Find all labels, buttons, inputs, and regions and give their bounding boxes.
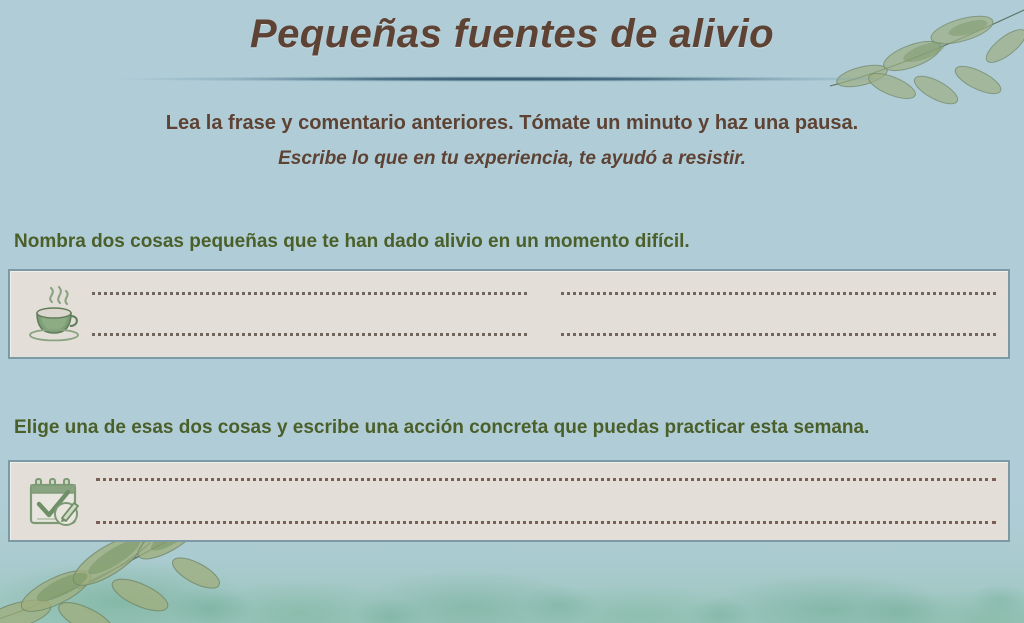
answer-column-left (92, 292, 527, 336)
answer-lines-group-1 (92, 271, 996, 357)
intro-line-1: Lea la frase y comentario anteriores. Tó… (0, 112, 1024, 135)
calendar-check-pencil-icon (24, 470, 84, 532)
answer-column-right (561, 292, 996, 336)
answer-line[interactable] (96, 478, 996, 481)
title-divider (112, 76, 912, 82)
intro-line-2: Escribe lo que en tu experiencia, te ayu… (0, 148, 1024, 170)
answer-line[interactable] (561, 333, 996, 336)
answer-box-1[interactable] (8, 269, 1010, 359)
prompt-question-1: Nombra dos cosas pequeñas que te han dad… (14, 231, 690, 253)
page-title: Pequeñas fuentes de alivio (0, 12, 1024, 57)
answer-lines-group-2 (96, 462, 996, 540)
answer-box-2[interactable] (8, 460, 1010, 542)
answer-column-full (96, 478, 996, 524)
worksheet-page: Pequeñas fuentes de alivio Lea la frase … (0, 0, 1024, 623)
coffee-cup-icon (24, 283, 84, 345)
answer-line[interactable] (96, 521, 996, 524)
answer-line[interactable] (92, 333, 527, 336)
prompt-question-2: Elige una de esas dos cosas y escribe un… (14, 417, 869, 439)
answer-line[interactable] (92, 292, 527, 295)
answer-line[interactable] (561, 292, 996, 295)
